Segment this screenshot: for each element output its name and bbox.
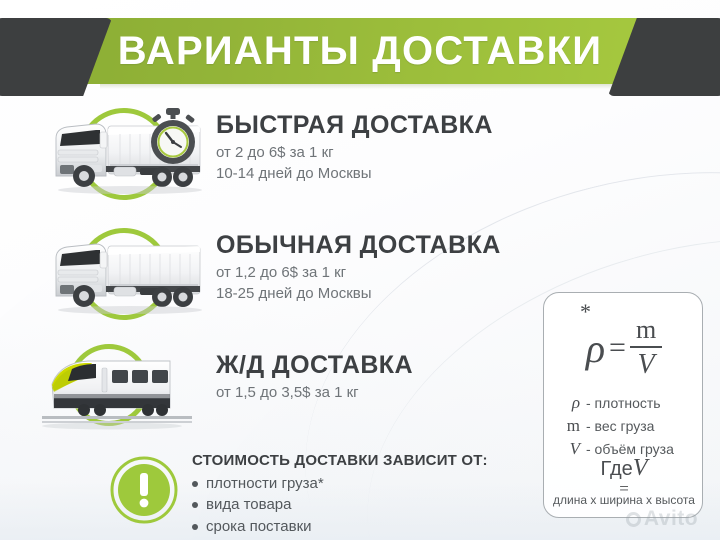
option-price: от 1,5 до 3,5$ за 1 кг — [216, 384, 536, 403]
list-item: плотности груза* — [192, 474, 532, 494]
legend-symbol: ρ — [554, 393, 580, 413]
formula-where-symbol: V — [633, 455, 648, 481]
legend-text: - плотность — [586, 395, 661, 411]
cost-note-block: СТОИМОСТЬ ДОСТАВКИ ЗАВИСИТ ОТ: плотности… — [110, 452, 530, 532]
list-item-label: плотности груза* — [206, 474, 324, 494]
delivery-option-standard-text: ОБЫЧНАЯ ДОСТАВКА от 1,2 до 6$ за 1 кг 18… — [216, 232, 536, 304]
option-duration: 18-25 дней до Москвы — [216, 285, 536, 304]
cost-note-text: СТОИМОСТЬ ДОСТАВКИ ЗАВИСИТ ОТ: плотности… — [192, 452, 532, 538]
option-duration: 10-14 дней до Москвы — [216, 165, 536, 184]
page-title: ВАРИАНТЫ ДОСТАВКИ — [60, 18, 660, 84]
legend-text: - вес груза — [586, 418, 654, 434]
bullet-icon — [192, 524, 198, 530]
watermark-circle-icon — [626, 512, 641, 527]
formula-where-label: Где — [601, 458, 633, 480]
list-item: срока поставки — [192, 517, 532, 537]
formula-legend: ρ - плотность m - вес груза V - объём гр… — [554, 393, 704, 462]
cost-note-title: СТОИМОСТЬ ДОСТАВКИ ЗАВИСИТ ОТ: — [192, 452, 532, 469]
delivery-option-fast-text: БЫСТРАЯ ДОСТАВКА от 2 до 6$ за 1 кг 10-1… — [216, 112, 536, 184]
delivery-option-rail-icon — [40, 338, 210, 438]
delivery-option-fast-icon — [40, 104, 210, 204]
list-item-label: срока поставки — [206, 517, 312, 537]
poster-canvas: ВАРИАНТЫ ДОСТАВКИ — [0, 0, 720, 540]
formula-equals-sign: = — [609, 331, 626, 365]
legend-item: m - вес груза — [554, 416, 704, 436]
density-formula-card: * ρ = m V ρ - плотность m - вес груза V … — [543, 292, 703, 518]
formula-rho-symbol: ρ — [586, 325, 605, 372]
bullet-icon — [192, 481, 198, 487]
option-price: от 1,2 до 6$ за 1 кг — [216, 264, 536, 283]
legend-symbol: m — [554, 416, 580, 436]
option-title: БЫСТРАЯ ДОСТАВКА — [216, 112, 536, 138]
truck-icon — [40, 224, 215, 324]
formula-fraction-bar — [630, 346, 662, 348]
formula-denominator: V — [630, 351, 662, 379]
avito-watermark: Avito — [608, 504, 716, 534]
exclamation-icon — [110, 456, 178, 524]
legend-item: ρ - плотность — [554, 393, 704, 413]
formula-fraction: m V — [630, 317, 662, 379]
option-title: Ж/Д ДОСТАВКА — [216, 352, 536, 378]
option-title: ОБЫЧНАЯ ДОСТАВКА — [216, 232, 536, 258]
ribbon-shadow — [100, 84, 620, 89]
formula-where-line: ГдеV — [544, 455, 704, 482]
formula-numerator: m — [630, 317, 662, 343]
stopwatch-icon — [142, 106, 204, 168]
option-price: от 2 до 6$ за 1 кг — [216, 144, 536, 163]
formula-expression: ρ = m V — [544, 311, 704, 385]
delivery-option-rail-text: Ж/Д ДОСТАВКА от 1,5 до 3,5$ за 1 кг — [216, 352, 536, 403]
train-icon — [28, 338, 203, 438]
delivery-option-standard-icon — [40, 224, 210, 324]
list-item: вида товара — [192, 495, 532, 515]
header-banner: ВАРИАНТЫ ДОСТАВКИ — [0, 18, 720, 90]
bullet-icon — [192, 502, 198, 508]
list-item-label: вида товара — [206, 495, 291, 515]
watermark-label: Avito — [644, 507, 698, 531]
